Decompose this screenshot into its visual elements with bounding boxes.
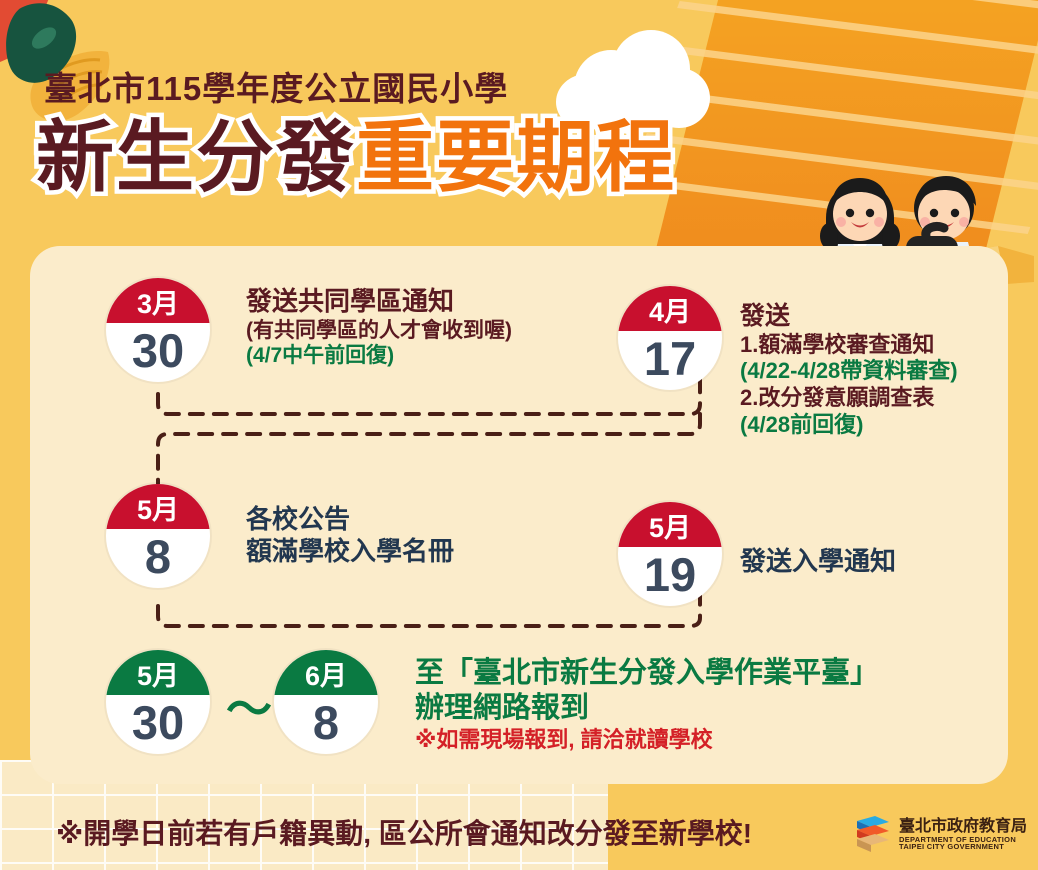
date-badge-item-4: 5月 19 [618, 502, 722, 606]
timeline-line: (有共同學區的人才會收到喔) [246, 318, 512, 344]
date-badge-item-1: 3月 30 [106, 278, 210, 382]
logo-chevron-icon [855, 814, 891, 856]
timeline-line: 2.改分發意願調查表 [740, 385, 958, 412]
logo-cn-name: 臺北市政府教育局 [899, 819, 1027, 836]
page-title-part2: 重要期程 [356, 113, 676, 201]
timeline-line: (4/28前回復) [740, 412, 958, 439]
timeline-line: 辦理網路報到 [415, 691, 879, 726]
date-badge-month: 6月 [274, 650, 378, 695]
footer-note: ※開學日前若有戶籍異動, 區公所會通知改分發至新學校! [56, 812, 752, 852]
timeline-line: 至「臺北市新生分發入學作業平臺」 [415, 656, 879, 691]
date-badge-month: 5月 [106, 484, 210, 529]
date-badge-item-5-start: 5月 30 [106, 650, 210, 754]
timeline-line: (4/7中午前回復) [246, 343, 512, 369]
page-title: 新生分發重要期程 [36, 118, 676, 196]
date-badge-month: 5月 [106, 650, 210, 695]
date-badge-month: 5月 [618, 502, 722, 547]
timeline-line: 1.額滿學校審查通知 [740, 332, 958, 359]
timeline-line: 發送 [740, 301, 958, 332]
date-badge-month: 4月 [618, 286, 722, 331]
page-title-part1: 新生分發 [36, 113, 356, 201]
date-range-separator: ～ [226, 686, 272, 732]
timeline-line: ※如需現場報到, 請洽就讀學校 [415, 727, 879, 754]
date-badge-day: 19 [618, 547, 722, 606]
date-badge-day: 30 [106, 323, 210, 382]
page-subtitle: 臺北市115學年度公立國民小學 [44, 62, 508, 110]
timeline-card: 3月 30 發送共同學區通知 (有共同學區的人才會收到喔) (4/7中午前回復)… [30, 246, 1008, 784]
date-badge-day: 30 [106, 695, 210, 754]
date-badge-month: 3月 [106, 278, 210, 323]
timeline-text-item-2: 發送 1.額滿學校審查通知 (4/22-4/28帶資料審查) 2.改分發意願調查… [740, 301, 958, 439]
date-badge-day: 8 [274, 695, 378, 754]
logo-text-block: 臺北市政府教育局 DEPARTMENT OF EDUCATION TAIPEI … [899, 819, 1027, 852]
timeline-line: 發送共同學區通知 [246, 286, 512, 318]
timeline-line: 發送入學通知 [740, 546, 896, 578]
timeline-text-item-1: 發送共同學區通知 (有共同學區的人才會收到喔) (4/7中午前回復) [246, 286, 512, 369]
date-badge-day: 8 [106, 529, 210, 588]
taipei-education-logo: 臺北市政府教育局 DEPARTMENT OF EDUCATION TAIPEI … [855, 814, 1027, 856]
logo-en-line2: TAIPEI CITY GOVERNMENT [899, 843, 1027, 851]
timeline-line: (4/22-4/28帶資料審查) [740, 358, 958, 385]
timeline-line: 各校公告 [246, 504, 454, 536]
poster-root: 臺北市115學年度公立國民小學 新生分發重要期程 [0, 0, 1038, 870]
date-badge-item-2: 4月 17 [618, 286, 722, 390]
date-badge-item-3: 5月 8 [106, 484, 210, 588]
timeline-text-item-3: 各校公告 額滿學校入學名冊 [246, 504, 454, 567]
timeline-text-item-5: 至「臺北市新生分發入學作業平臺」 辦理網路報到 ※如需現場報到, 請洽就讀學校 [415, 656, 879, 754]
date-badge-item-5-end: 6月 8 [274, 650, 378, 754]
timeline-line: 額滿學校入學名冊 [246, 536, 454, 568]
date-badge-day: 17 [618, 331, 722, 390]
timeline-text-item-4: 發送入學通知 [740, 546, 896, 578]
